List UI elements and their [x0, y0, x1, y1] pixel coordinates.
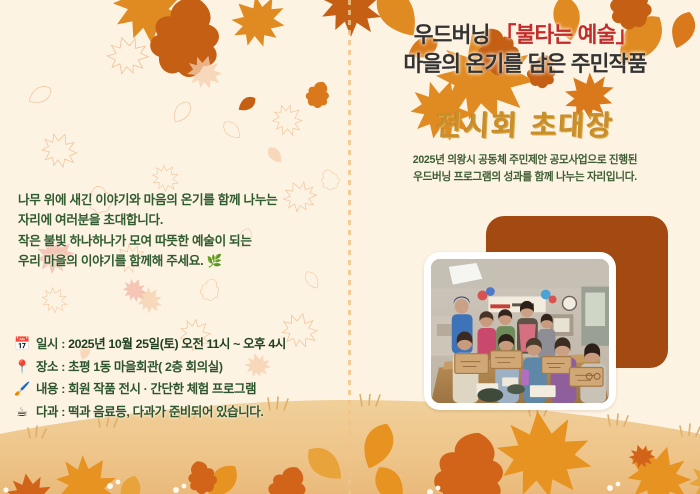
- invitation-body-copy: 나무 위에 새긴 이야기와 마음의 온기를 함께 나누는 자리에 여러분을 초대…: [18, 190, 336, 272]
- program-description-line-1: 2025년 의왕시 공동체 주민제안 공모사업으로 진행된: [350, 152, 700, 169]
- event-detail-date-label: 일시 :: [36, 337, 65, 351]
- event-details-list: 📅 일시 : 2025년 10월 25일(토) 오전 11시 ~ 오후 4시 📍…: [14, 334, 344, 424]
- program-description-line-2: 우드버닝 프로그램의 성과를 함께 나누는 자리입니다.: [350, 169, 700, 186]
- event-detail-date-value: 2025년 10월 25일(토) 오전 11시 ~ 오후 4시: [68, 337, 286, 351]
- photo-composition: [410, 210, 680, 420]
- headline-line-2: 마을의 온기를 담은 주민작품: [350, 50, 700, 80]
- event-detail-location-text: 장소 : 초평 1동 마을회관( 2층 회의실): [36, 357, 223, 375]
- body-copy-line-4: 우리 마을의 이야기를 함께해 주세요. 🌿: [18, 251, 336, 271]
- event-detail-date: 📅 일시 : 2025년 10월 25일(토) 오전 11시 ~ 오후 4시: [14, 334, 344, 352]
- event-detail-location-label: 장소 :: [36, 360, 65, 374]
- page-title: 전시회 초대장: [349, 104, 700, 144]
- refreshments-icon: ☕: [14, 405, 30, 418]
- event-detail-program-label: 내용 :: [36, 382, 65, 396]
- event-detail-refreshments: ☕ 다과 : 떡과 음료등, 다과가 준비되어 있습니다.: [14, 402, 344, 420]
- event-detail-program-text: 내용 : 회원 작품 전시 · 간단한 체험 프로그램: [36, 379, 256, 397]
- body-copy-line-3: 작은 불빛 하나하나가 모여 따뜻한 예술이 되는: [18, 231, 336, 251]
- left-panel: 나무 위에 새긴 이야기와 마음의 온기를 함께 나누는 자리에 여러분을 초대…: [0, 0, 348, 494]
- paintbrush-icon: 🖌️: [14, 382, 30, 395]
- event-detail-program: 🖌️ 내용 : 회원 작품 전시 · 간단한 체험 프로그램: [14, 379, 344, 397]
- workshop-photo: [431, 259, 609, 403]
- event-detail-refreshments-label: 다과 :: [36, 405, 65, 419]
- body-copy-line-1: 나무 위에 새긴 이야기와 마음의 온기를 함께 나누는: [18, 190, 336, 210]
- center-fold-line: [348, 0, 351, 494]
- right-panel: 우드버닝 「불타는 예술」 마을의 온기를 담은 주민작품 전시회 초대장 20…: [350, 0, 700, 494]
- event-detail-program-value: 회원 작품 전시 · 간단한 체험 프로그램: [68, 382, 256, 396]
- event-detail-refreshments-text: 다과 : 떡과 음료등, 다과가 준비되어 있습니다.: [36, 402, 263, 420]
- event-detail-date-text: 일시 : 2025년 10월 25일(토) 오전 11시 ~ 오후 4시: [36, 334, 286, 352]
- invitation-poster: 나무 위에 새긴 이야기와 마음의 온기를 함께 나누는 자리에 여러분을 초대…: [0, 0, 700, 494]
- location-pin-icon: 📍: [14, 360, 30, 373]
- headline-line-1: 우드버닝 「불타는 예술」: [350, 22, 700, 50]
- headline-accent-text: 「불타는 예술」: [495, 23, 636, 47]
- headline-plain-text: 우드버닝: [414, 23, 490, 47]
- poster-headline: 우드버닝 「불타는 예술」 마을의 온기를 담은 주민작품: [350, 22, 700, 79]
- event-detail-location-value: 초평 1동 마을회관( 2층 회의실): [68, 360, 223, 374]
- body-copy-line-2: 자리에 여러분을 초대합니다.: [18, 210, 336, 230]
- photo-frame: [424, 252, 616, 410]
- calendar-icon: 📅: [14, 337, 30, 350]
- event-detail-refreshments-value: 떡과 음료등, 다과가 준비되어 있습니다.: [68, 405, 263, 419]
- event-detail-location: 📍 장소 : 초평 1동 마을회관( 2층 회의실): [14, 357, 344, 375]
- program-description: 2025년 의왕시 공동체 주민제안 공모사업으로 진행된 우드버닝 프로그램의…: [350, 152, 700, 185]
